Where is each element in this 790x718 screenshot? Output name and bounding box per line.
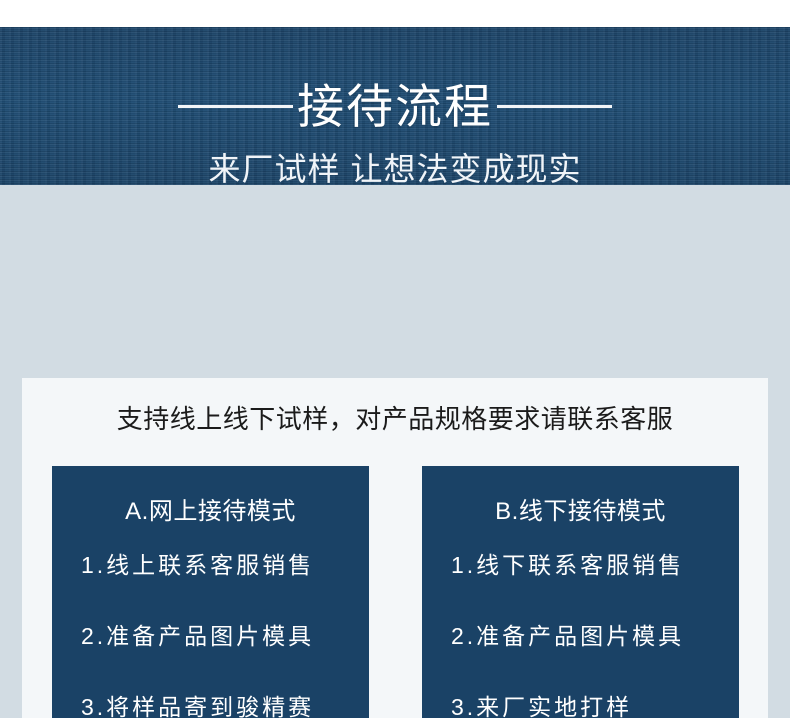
title-rule-left-icon — [178, 105, 293, 108]
top-white-strip — [0, 0, 790, 27]
list-item: 3.将样品寄到骏精赛 — [52, 696, 369, 718]
mode-cards: A.网上接待模式 1.线上联系客服销售 2.准备产品图片模具 3.将样品寄到骏精… — [52, 466, 739, 718]
page-title: 接待流程 — [293, 83, 497, 130]
content-frame: 支持线上线下试样，对产品规格要求请联系客服 A.网上接待模式 1.线上联系客服销… — [0, 185, 790, 718]
list-item: 1.线下联系客服销售 — [422, 554, 739, 577]
card-offline-mode: B.线下接待模式 1.线下联系客服销售 2.准备产品图片模具 3.来厂实地打样 … — [422, 466, 739, 718]
title-rule-right-icon — [497, 105, 612, 108]
card-title: B.线下接待模式 — [422, 500, 739, 524]
intro-text: 支持线上线下试样，对产品规格要求请联系客服 — [22, 404, 768, 435]
list-item: 2.准备产品图片模具 — [422, 625, 739, 648]
card-step-list: 1.线上联系客服销售 2.准备产品图片模具 3.将样品寄到骏精赛 4.材料配合模… — [52, 554, 369, 718]
banner-subtitle: 来厂试样 让想法变成现实 — [0, 153, 790, 185]
card-step-list: 1.线下联系客服销售 2.准备产品图片模具 3.来厂实地打样 4.现场商讨工艺 — [422, 554, 739, 718]
content-panel: 支持线上线下试样，对产品规格要求请联系客服 A.网上接待模式 1.线上联系客服销… — [22, 378, 768, 718]
card-title: A.网上接待模式 — [52, 500, 369, 524]
list-item: 3.来厂实地打样 — [422, 696, 739, 718]
banner-title-row: 接待流程 — [0, 75, 790, 137]
list-item: 1.线上联系客服销售 — [52, 554, 369, 577]
list-item: 2.准备产品图片模具 — [52, 625, 369, 648]
card-online-mode: A.网上接待模式 1.线上联系客服销售 2.准备产品图片模具 3.将样品寄到骏精… — [52, 466, 369, 718]
page-banner: 接待流程 来厂试样 让想法变成现实 — [0, 27, 790, 185]
promo-page: 接待流程 来厂试样 让想法变成现实 支持线上线下试样，对产品规格要求请联系客服 … — [0, 0, 790, 718]
